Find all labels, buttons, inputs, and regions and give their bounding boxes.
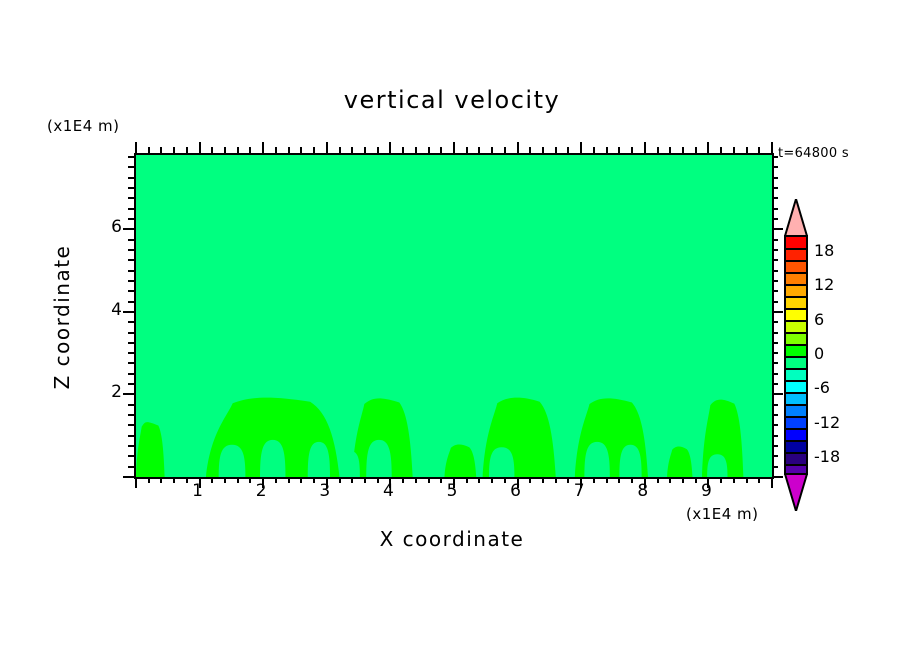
x-tick-minor <box>351 477 353 483</box>
y-tick-minor-right <box>772 414 778 416</box>
y-tick-minor-right <box>772 177 778 179</box>
y-tick-minor <box>128 373 134 375</box>
x-tick-minor-top <box>606 147 608 153</box>
x-tick-label: 3 <box>310 481 340 501</box>
colorbar-band-divider <box>786 272 806 274</box>
x-tick-minor <box>148 477 150 483</box>
x-tick-label: 7 <box>564 481 594 501</box>
y-tick-major <box>123 476 134 478</box>
y-tick-minor-right <box>772 373 778 375</box>
x-tick-minor-top <box>160 147 162 153</box>
x-tick-major-top <box>771 142 773 153</box>
x-tick-minor <box>542 477 544 483</box>
colorbar-label: 6 <box>814 310 824 329</box>
y-tick-label: 6 <box>98 217 122 237</box>
x-tick-minor-top <box>275 147 277 153</box>
y-tick-minor <box>128 239 134 241</box>
x-tick-label: 9 <box>691 481 721 501</box>
y-tick-major <box>123 311 134 313</box>
x-tick-major-top <box>326 142 328 153</box>
x-tick-minor-top <box>542 147 544 153</box>
x-tick-minor <box>364 477 366 483</box>
y-tick-minor <box>128 280 134 282</box>
y-axis-unit-label: (x1E4 m) <box>47 117 120 135</box>
y-tick-minor-right <box>772 455 778 457</box>
colorbar-band-divider <box>786 260 806 262</box>
x-tick-minor-top <box>339 147 341 153</box>
x-tick-major-top <box>135 142 137 153</box>
x-tick-minor-top <box>351 147 353 153</box>
y-tick-major <box>123 393 134 395</box>
colorbar-band-divider <box>786 308 806 310</box>
x-tick-minor-top <box>733 147 735 153</box>
figure-canvas: vertical velocity (x1E4 m) (x1E4 m) X co… <box>0 0 904 654</box>
y-tick-minor-right <box>772 435 778 437</box>
x-tick-minor-top <box>288 147 290 153</box>
y-tick-minor-right <box>772 197 778 199</box>
x-tick-minor-top <box>555 147 557 153</box>
y-tick-minor <box>128 352 134 354</box>
x-tick-minor <box>733 477 735 483</box>
y-tick-minor-right <box>772 249 778 251</box>
y-tick-minor-right <box>772 362 778 364</box>
y-tick-minor-right <box>772 445 778 447</box>
colorbar-band-divider <box>786 380 806 382</box>
y-tick-minor <box>128 342 134 344</box>
x-tick-minor-top <box>618 147 620 153</box>
x-tick-major <box>135 477 137 488</box>
y-tick-minor <box>128 290 134 292</box>
x-tick-minor <box>415 477 417 483</box>
x-tick-major <box>771 477 773 488</box>
y-tick-minor <box>128 166 134 168</box>
y-tick-minor-right <box>772 404 778 406</box>
y-tick-minor <box>128 424 134 426</box>
x-tick-minor-top <box>478 147 480 153</box>
x-tick-minor-top <box>440 147 442 153</box>
y-tick-minor <box>128 332 134 334</box>
x-tick-major-top <box>199 142 201 153</box>
colorbar-band-divider <box>786 392 806 394</box>
x-tick-minor-top <box>631 147 633 153</box>
x-tick-minor-top <box>491 147 493 153</box>
colorbar-over-arrow-icon <box>784 199 808 237</box>
page-title: vertical velocity <box>0 86 904 114</box>
y-tick-label: 2 <box>98 382 122 402</box>
y-tick-minor <box>128 249 134 251</box>
colorbar-band-divider <box>786 452 806 454</box>
x-tick-label: 6 <box>501 481 531 501</box>
x-axis-unit-label: (x1E4 m) <box>686 505 759 523</box>
y-tick-minor-right <box>772 259 778 261</box>
colorbar-band-divider <box>786 344 806 346</box>
y-tick-minor-right <box>772 383 778 385</box>
x-tick-minor <box>300 477 302 483</box>
x-tick-major-top <box>580 142 582 153</box>
y-tick-minor <box>128 259 134 261</box>
colorbar-label: -18 <box>814 447 840 466</box>
y-tick-minor <box>128 466 134 468</box>
y-tick-minor <box>128 435 134 437</box>
x-tick-label: 1 <box>183 481 213 501</box>
x-tick-minor-top <box>237 147 239 153</box>
x-tick-label: 4 <box>373 481 403 501</box>
colorbar-band-divider <box>786 320 806 322</box>
x-tick-minor <box>288 477 290 483</box>
y-tick-minor-right <box>772 166 778 168</box>
x-tick-major-top <box>644 142 646 153</box>
y-tick-minor <box>128 218 134 220</box>
x-tick-minor-top <box>415 147 417 153</box>
x-tick-minor <box>618 477 620 483</box>
x-tick-minor <box>491 477 493 483</box>
x-tick-minor-top <box>313 147 315 153</box>
x-tick-minor-top <box>720 147 722 153</box>
y-tick-minor <box>128 177 134 179</box>
y-tick-minor-right <box>772 280 778 282</box>
timestamp-annotation: t=64800 s <box>778 146 849 161</box>
colorbar-band-divider <box>786 248 806 250</box>
x-tick-minor-top <box>657 147 659 153</box>
x-tick-minor-top <box>529 147 531 153</box>
colorbar-label: 18 <box>814 241 834 260</box>
colorbar-under-arrow-icon <box>784 473 808 511</box>
colorbar: 181260-6-12-18 <box>784 199 808 511</box>
y-tick-minor-right <box>772 290 778 292</box>
colorbar-band-divider <box>786 296 806 298</box>
x-tick-minor <box>478 477 480 483</box>
y-tick-major-right <box>772 228 783 230</box>
y-tick-minor-right <box>772 218 778 220</box>
x-tick-major-top <box>707 142 709 153</box>
y-tick-minor-right <box>772 342 778 344</box>
y-tick-minor-right <box>772 321 778 323</box>
x-tick-minor-top <box>682 147 684 153</box>
y-tick-minor-right <box>772 301 778 303</box>
x-tick-minor <box>173 477 175 483</box>
x-tick-minor <box>160 477 162 483</box>
y-tick-minor <box>128 455 134 457</box>
y-tick-major <box>123 228 134 230</box>
colorbar-band-divider <box>786 464 806 466</box>
y-tick-minor-right <box>772 239 778 241</box>
x-tick-minor-top <box>249 147 251 153</box>
y-tick-minor <box>128 270 134 272</box>
y-tick-label: 4 <box>98 300 122 320</box>
y-tick-major-right <box>772 476 783 478</box>
x-tick-label: 8 <box>628 481 658 501</box>
x-tick-minor-top <box>758 147 760 153</box>
y-tick-minor-right <box>772 424 778 426</box>
y-tick-minor-right <box>772 270 778 272</box>
y-tick-minor <box>128 445 134 447</box>
y-tick-minor <box>128 383 134 385</box>
colorbar-band-divider <box>786 368 806 370</box>
x-tick-minor-top <box>211 147 213 153</box>
colorbar-band-divider <box>786 356 806 358</box>
x-tick-minor <box>428 477 430 483</box>
y-tick-minor-right <box>772 187 778 189</box>
x-tick-major-top <box>389 142 391 153</box>
x-tick-minor <box>669 477 671 483</box>
y-tick-minor-right <box>772 332 778 334</box>
x-tick-minor-top <box>377 147 379 153</box>
x-tick-minor-top <box>504 147 506 153</box>
x-tick-major-top <box>517 142 519 153</box>
x-tick-label: 2 <box>246 481 276 501</box>
y-tick-minor <box>128 156 134 158</box>
x-tick-major-top <box>262 142 264 153</box>
y-tick-minor <box>128 362 134 364</box>
x-tick-major-top <box>453 142 455 153</box>
y-tick-minor <box>128 321 134 323</box>
colorbar-label: -12 <box>814 413 840 432</box>
x-tick-minor <box>758 477 760 483</box>
y-tick-minor <box>128 208 134 210</box>
y-tick-minor <box>128 187 134 189</box>
x-tick-minor <box>224 477 226 483</box>
x-tick-minor-top <box>567 147 569 153</box>
x-tick-minor-top <box>186 147 188 153</box>
x-tick-minor <box>746 477 748 483</box>
colorbar-band-divider <box>786 284 806 286</box>
x-tick-minor-top <box>746 147 748 153</box>
y-tick-minor <box>128 197 134 199</box>
x-tick-minor-top <box>402 147 404 153</box>
colorbar-label: 0 <box>814 344 824 363</box>
x-tick-minor-top <box>300 147 302 153</box>
x-axis-title: X coordinate <box>0 527 904 551</box>
y-tick-minor <box>128 414 134 416</box>
y-tick-minor-right <box>772 466 778 468</box>
x-tick-minor <box>555 477 557 483</box>
x-tick-minor-top <box>593 147 595 153</box>
y-tick-minor-right <box>772 208 778 210</box>
x-tick-minor-top <box>695 147 697 153</box>
colorbar-bands <box>784 235 808 475</box>
x-tick-minor-top <box>466 147 468 153</box>
velocity-field-contours <box>136 155 772 477</box>
x-tick-minor <box>682 477 684 483</box>
colorbar-label: 12 <box>814 275 834 294</box>
x-tick-minor <box>237 477 239 483</box>
colorbar-band-divider <box>786 404 806 406</box>
x-tick-minor-top <box>428 147 430 153</box>
y-tick-major-right <box>772 311 783 313</box>
x-tick-minor <box>606 477 608 483</box>
x-tick-minor-top <box>669 147 671 153</box>
y-tick-minor-right <box>772 156 778 158</box>
y-tick-minor <box>128 301 134 303</box>
colorbar-band-divider <box>786 416 806 418</box>
colorbar-band-divider <box>786 428 806 430</box>
plot-area <box>134 153 774 479</box>
x-tick-minor-top <box>173 147 175 153</box>
x-tick-minor-top <box>364 147 366 153</box>
colorbar-band-divider <box>786 332 806 334</box>
colorbar-band-divider <box>786 440 806 442</box>
x-tick-label: 5 <box>437 481 467 501</box>
colorbar-label: -6 <box>814 378 830 397</box>
y-axis-title: Z coordinate <box>50 227 74 407</box>
x-tick-minor-top <box>148 147 150 153</box>
x-tick-minor-top <box>224 147 226 153</box>
y-tick-minor <box>128 404 134 406</box>
y-tick-minor-right <box>772 352 778 354</box>
y-tick-major-right <box>772 393 783 395</box>
